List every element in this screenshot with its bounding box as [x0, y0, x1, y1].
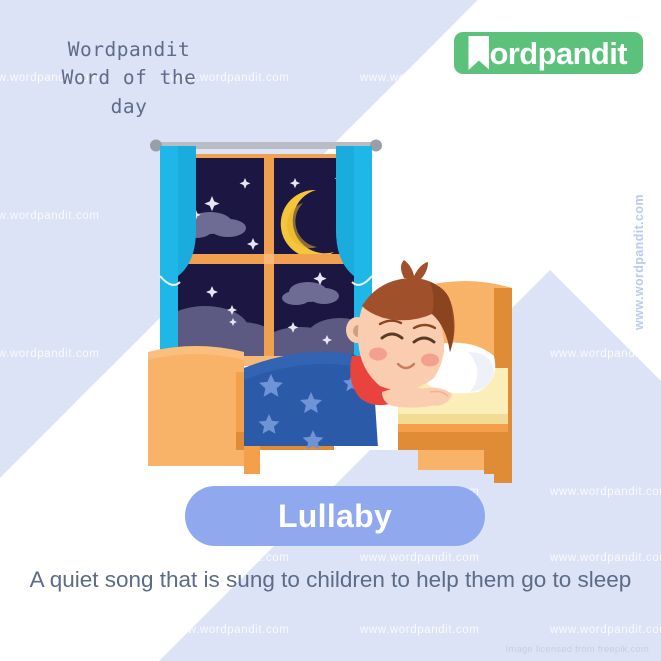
- word-of-the-day-card: www.wordpandit.comwww.wordpandit.comwww.…: [0, 0, 661, 661]
- word-definition: A quiet song that is sung to children to…: [16, 566, 645, 595]
- bed-footboard: [148, 346, 244, 466]
- wordpandit-logo[interactable]: ordpandit: [454, 32, 643, 74]
- bookmark-w-icon: [468, 36, 489, 70]
- child-hair-tuft: [401, 260, 428, 280]
- bed-leg-right: [484, 438, 500, 474]
- image-credit: Image licensed from freepik.com: [506, 644, 649, 655]
- page-title: Wordpandit Word of the day: [14, 36, 244, 121]
- child-cheek-left: [369, 348, 387, 361]
- word-label: Lullaby: [278, 498, 392, 535]
- word-badge: Lullaby: [185, 486, 485, 546]
- logo-text: ordpandit: [489, 38, 627, 69]
- child-cheek-right: [421, 354, 439, 367]
- side-watermark: www.wordpandit.com: [632, 194, 646, 330]
- window-mullion-joint: [264, 254, 274, 264]
